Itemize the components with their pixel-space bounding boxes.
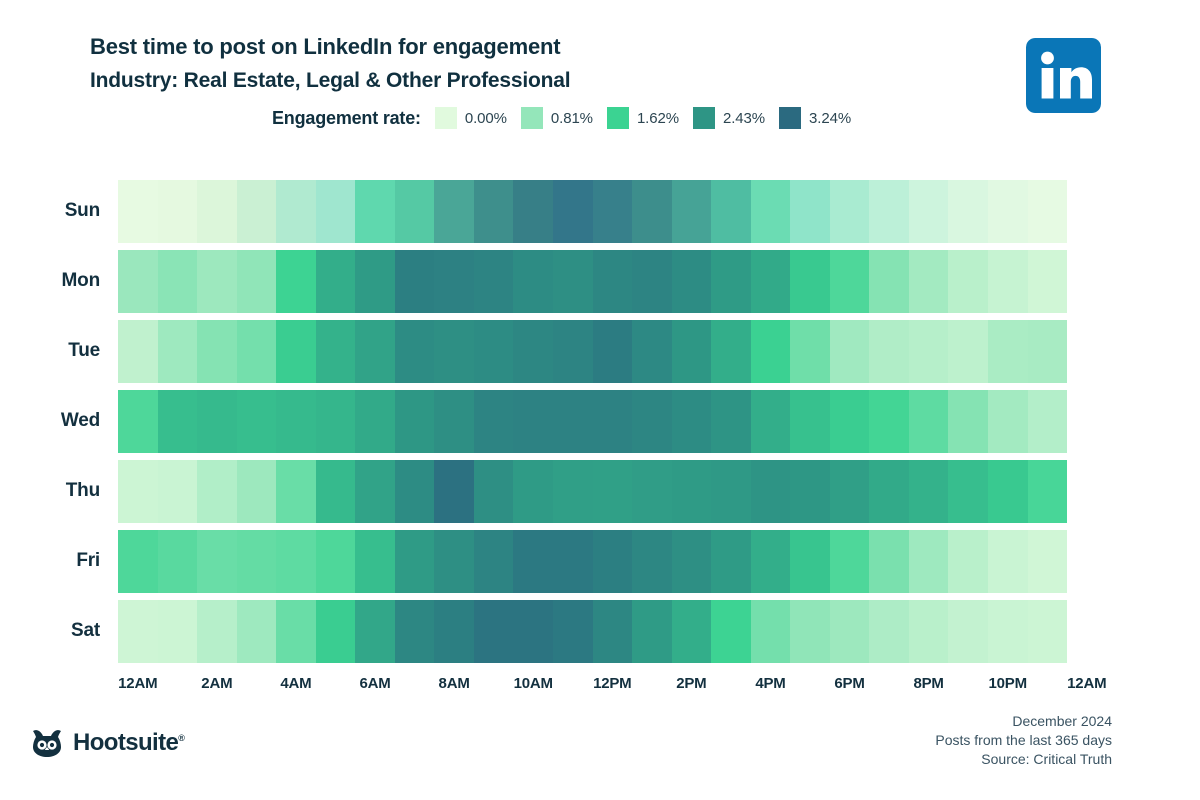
x-tick-label: 2AM bbox=[201, 675, 232, 692]
x-tick-label: 8PM bbox=[913, 675, 943, 692]
owl-icon bbox=[30, 728, 64, 758]
heatmap-cell[interactable] bbox=[790, 530, 830, 593]
heatmap-cell[interactable] bbox=[197, 530, 237, 593]
heatmap-cell[interactable] bbox=[751, 250, 791, 313]
heatmap-cell[interactable] bbox=[276, 390, 316, 453]
heatmap-cell[interactable] bbox=[197, 600, 237, 663]
x-tick-label: 4PM bbox=[755, 675, 785, 692]
day-label-tue: Tue bbox=[0, 340, 100, 362]
hootsuite-wordmark: Hootsuite® bbox=[73, 729, 184, 757]
heatmap-cell[interactable] bbox=[909, 320, 949, 383]
heatmap-cell[interactable] bbox=[632, 320, 672, 383]
heatmap-cell[interactable] bbox=[355, 320, 395, 383]
footer-note: December 2024 Posts from the last 365 da… bbox=[935, 712, 1112, 769]
heatmap-cell[interactable] bbox=[593, 600, 633, 663]
heatmap-cell[interactable] bbox=[316, 530, 356, 593]
day-label-fri: Fri bbox=[0, 550, 100, 572]
heatmap-cell[interactable] bbox=[316, 600, 356, 663]
heatmap-cell[interactable] bbox=[197, 390, 237, 453]
heatmap-cell[interactable] bbox=[751, 320, 791, 383]
heatmap-cell[interactable] bbox=[988, 530, 1028, 593]
heatmap-cell[interactable] bbox=[909, 390, 949, 453]
heatmap-cell[interactable] bbox=[118, 390, 158, 453]
day-label-sun: Sun bbox=[0, 200, 100, 222]
heatmap-row bbox=[118, 320, 1067, 383]
heatmap-row bbox=[118, 250, 1067, 313]
x-tick-label: 12AM bbox=[118, 675, 157, 692]
heatmap-cell[interactable] bbox=[869, 180, 909, 243]
heatmap-cell[interactable] bbox=[830, 180, 870, 243]
day-label-mon: Mon bbox=[0, 270, 100, 292]
heatmap-cell[interactable] bbox=[434, 180, 474, 243]
heatmap-cell[interactable] bbox=[355, 530, 395, 593]
heatmap-cell[interactable] bbox=[869, 250, 909, 313]
heatmap-cell[interactable] bbox=[869, 320, 909, 383]
heatmap-cell[interactable] bbox=[197, 250, 237, 313]
heatmap-cell[interactable] bbox=[830, 250, 870, 313]
heatmap-cell[interactable] bbox=[988, 250, 1028, 313]
day-label-thu: Thu bbox=[0, 480, 100, 502]
heatmap-cell[interactable] bbox=[593, 250, 633, 313]
heatmap-cell[interactable] bbox=[909, 460, 949, 523]
heatmap-cell[interactable] bbox=[988, 390, 1028, 453]
heatmap-cell[interactable] bbox=[474, 390, 514, 453]
x-tick-label: 2PM bbox=[676, 675, 706, 692]
heatmap-cell[interactable] bbox=[276, 320, 316, 383]
heatmap-cell[interactable] bbox=[513, 460, 553, 523]
heatmap-cell[interactable] bbox=[276, 600, 316, 663]
heatmap-cell[interactable] bbox=[118, 320, 158, 383]
heatmap-cell[interactable] bbox=[790, 250, 830, 313]
heatmap-cell[interactable] bbox=[909, 180, 949, 243]
heatmap-cell[interactable] bbox=[553, 600, 593, 663]
heatmap-cell[interactable] bbox=[158, 250, 198, 313]
heatmap-cell[interactable] bbox=[672, 320, 712, 383]
heatmap-cell[interactable] bbox=[948, 460, 988, 523]
heatmap-row bbox=[118, 390, 1067, 453]
heatmap-cell[interactable] bbox=[434, 530, 474, 593]
heatmap-row bbox=[118, 460, 1067, 523]
heatmap-cell[interactable] bbox=[395, 320, 435, 383]
x-tick-label: 10PM bbox=[988, 675, 1026, 692]
heatmap-cell[interactable] bbox=[948, 600, 988, 663]
heatmap-cell[interactable] bbox=[316, 180, 356, 243]
heatmap-cell[interactable] bbox=[513, 180, 553, 243]
heatmap-cell[interactable] bbox=[909, 530, 949, 593]
heatmap-cell[interactable] bbox=[434, 390, 474, 453]
heatmap-cell[interactable] bbox=[395, 180, 435, 243]
heatmap-cell[interactable] bbox=[593, 180, 633, 243]
heatmap-cell[interactable] bbox=[1028, 530, 1068, 593]
heatmap-cell[interactable] bbox=[553, 530, 593, 593]
heatmap-cell[interactable] bbox=[830, 320, 870, 383]
heatmap-cell[interactable] bbox=[395, 600, 435, 663]
heatmap-cell[interactable] bbox=[1028, 180, 1068, 243]
heatmap-cell[interactable] bbox=[948, 530, 988, 593]
heatmap-cell[interactable] bbox=[790, 390, 830, 453]
heatmap-cell[interactable] bbox=[474, 250, 514, 313]
heatmap-row bbox=[118, 600, 1067, 663]
heatmap-cell[interactable] bbox=[830, 600, 870, 663]
heatmap-cell[interactable] bbox=[513, 600, 553, 663]
heatmap-cell[interactable] bbox=[1028, 320, 1068, 383]
day-label-wed: Wed bbox=[0, 410, 100, 432]
footer-date: December 2024 bbox=[935, 712, 1112, 731]
heatmap-row bbox=[118, 180, 1067, 243]
heatmap-cell[interactable] bbox=[118, 180, 158, 243]
heatmap-cell[interactable] bbox=[237, 390, 277, 453]
heatmap-cell[interactable] bbox=[118, 600, 158, 663]
heatmap-cell[interactable] bbox=[593, 460, 633, 523]
heatmap-cell[interactable] bbox=[355, 390, 395, 453]
x-axis: 12AM2AM4AM6AM8AM10AM12PM2PM4PM6PM8PM10PM… bbox=[118, 675, 1067, 697]
chart-page: Best time to post on LinkedIn for engage… bbox=[0, 0, 1200, 800]
x-tick-label: 6PM bbox=[834, 675, 864, 692]
heatmap-cell[interactable] bbox=[869, 530, 909, 593]
heatmap-cell[interactable] bbox=[672, 600, 712, 663]
heatmap-cell[interactable] bbox=[355, 180, 395, 243]
heatmap-cell[interactable] bbox=[513, 250, 553, 313]
heatmap-cell[interactable] bbox=[276, 460, 316, 523]
footer-source: Source: Critical Truth bbox=[935, 750, 1112, 769]
heatmap-cell[interactable] bbox=[632, 600, 672, 663]
day-label-sat: Sat bbox=[0, 620, 100, 642]
heatmap-cell[interactable] bbox=[197, 320, 237, 383]
heatmap-cell[interactable] bbox=[948, 320, 988, 383]
heatmap-cell[interactable] bbox=[711, 320, 751, 383]
heatmap-cell[interactable] bbox=[158, 320, 198, 383]
heatmap-cell[interactable] bbox=[1028, 460, 1068, 523]
heatmap-cell[interactable] bbox=[474, 180, 514, 243]
heatmap-cell[interactable] bbox=[632, 180, 672, 243]
heatmap-row bbox=[118, 530, 1067, 593]
heatmap-cell[interactable] bbox=[474, 320, 514, 383]
heatmap-cell[interactable] bbox=[197, 460, 237, 523]
heatmap-cell[interactable] bbox=[869, 460, 909, 523]
heatmap-cell[interactable] bbox=[553, 180, 593, 243]
heatmap-cell[interactable] bbox=[395, 390, 435, 453]
heatmap-cell[interactable] bbox=[316, 460, 356, 523]
heatmap-cell[interactable] bbox=[948, 250, 988, 313]
heatmap-cell[interactable] bbox=[553, 390, 593, 453]
heatmap-cell[interactable] bbox=[355, 460, 395, 523]
heatmap-cell[interactable] bbox=[711, 530, 751, 593]
footer-window: Posts from the last 365 days bbox=[935, 731, 1112, 750]
heatmap-cell[interactable] bbox=[672, 390, 712, 453]
hootsuite-name: Hootsuite bbox=[73, 729, 178, 756]
heatmap-cell[interactable] bbox=[711, 250, 751, 313]
x-tick-label: 12PM bbox=[593, 675, 631, 692]
heatmap-cell[interactable] bbox=[474, 530, 514, 593]
heatmap-cell[interactable] bbox=[869, 390, 909, 453]
heatmap-cell[interactable] bbox=[988, 600, 1028, 663]
heatmap-cell[interactable] bbox=[513, 390, 553, 453]
heatmap-cell[interactable] bbox=[158, 180, 198, 243]
heatmap-cell[interactable] bbox=[751, 390, 791, 453]
heatmap-cell[interactable] bbox=[355, 600, 395, 663]
heatmap-cell[interactable] bbox=[711, 180, 751, 243]
heatmap-cell[interactable] bbox=[276, 530, 316, 593]
registered-mark: ® bbox=[178, 733, 184, 743]
heatmap-cell[interactable] bbox=[632, 460, 672, 523]
heatmap-cell[interactable] bbox=[474, 600, 514, 663]
heatmap-cell[interactable] bbox=[553, 460, 593, 523]
x-tick-label: 10AM bbox=[514, 675, 553, 692]
heatmap-cell[interactable] bbox=[513, 320, 553, 383]
heatmap-cell[interactable] bbox=[830, 390, 870, 453]
heatmap-cell[interactable] bbox=[751, 180, 791, 243]
heatmap-cell[interactable] bbox=[830, 460, 870, 523]
heatmap-cell[interactable] bbox=[553, 250, 593, 313]
heatmap-cell[interactable] bbox=[790, 600, 830, 663]
heatmap-cell[interactable] bbox=[711, 600, 751, 663]
heatmap-cell[interactable] bbox=[751, 600, 791, 663]
heatmap-cell[interactable] bbox=[1028, 600, 1068, 663]
heatmap-cell[interactable] bbox=[1028, 250, 1068, 313]
heatmap-cell[interactable] bbox=[237, 180, 277, 243]
heatmap-cell[interactable] bbox=[513, 530, 553, 593]
heatmap-cell[interactable] bbox=[751, 530, 791, 593]
heatmap-cell[interactable] bbox=[434, 600, 474, 663]
heatmap-cell[interactable] bbox=[395, 460, 435, 523]
heatmap-cell[interactable] bbox=[158, 460, 198, 523]
heatmap-cell[interactable] bbox=[316, 320, 356, 383]
heatmap-cell[interactable] bbox=[988, 320, 1028, 383]
heatmap-cell[interactable] bbox=[434, 320, 474, 383]
heatmap-cell[interactable] bbox=[988, 180, 1028, 243]
x-tick-label: 6AM bbox=[359, 675, 390, 692]
heatmap-cell[interactable] bbox=[632, 250, 672, 313]
heatmap-cell[interactable] bbox=[593, 530, 633, 593]
heatmap-cell[interactable] bbox=[316, 390, 356, 453]
heatmap-cell[interactable] bbox=[474, 460, 514, 523]
heatmap-cell[interactable] bbox=[237, 460, 277, 523]
x-tick-label: 12AM bbox=[1067, 675, 1106, 692]
heatmap-cell[interactable] bbox=[237, 250, 277, 313]
heatmap-cell[interactable] bbox=[909, 600, 949, 663]
heatmap-cell[interactable] bbox=[395, 530, 435, 593]
heatmap-cell[interactable] bbox=[672, 530, 712, 593]
heatmap-cell[interactable] bbox=[672, 180, 712, 243]
heatmap-cell[interactable] bbox=[869, 600, 909, 663]
heatmap-cell[interactable] bbox=[158, 600, 198, 663]
heatmap-cell[interactable] bbox=[158, 390, 198, 453]
heatmap-cell[interactable] bbox=[672, 460, 712, 523]
heatmap-cell[interactable] bbox=[237, 320, 277, 383]
heatmap-cell[interactable] bbox=[632, 530, 672, 593]
heatmap-cell[interactable] bbox=[909, 250, 949, 313]
heatmap-cell[interactable] bbox=[118, 460, 158, 523]
heatmap-cell[interactable] bbox=[948, 180, 988, 243]
heatmap-cell[interactable] bbox=[118, 530, 158, 593]
heatmap-cell[interactable] bbox=[632, 390, 672, 453]
heatmap-cell[interactable] bbox=[593, 320, 633, 383]
heatmap-cell[interactable] bbox=[158, 530, 198, 593]
heatmap-cell[interactable] bbox=[711, 460, 751, 523]
heatmap-cell[interactable] bbox=[237, 600, 277, 663]
hootsuite-logo: Hootsuite® bbox=[30, 728, 184, 758]
heatmap-cell[interactable] bbox=[316, 250, 356, 313]
heatmap-cell[interactable] bbox=[355, 250, 395, 313]
heatmap-cell[interactable] bbox=[948, 390, 988, 453]
x-tick-label: 4AM bbox=[280, 675, 311, 692]
heatmap-cell[interactable] bbox=[711, 390, 751, 453]
heatmap-cell[interactable] bbox=[395, 250, 435, 313]
heatmap-cell[interactable] bbox=[434, 250, 474, 313]
heatmap-cell[interactable] bbox=[672, 250, 712, 313]
heatmap-cell[interactable] bbox=[988, 460, 1028, 523]
heatmap-cell[interactable] bbox=[276, 250, 316, 313]
heatmap-cell[interactable] bbox=[553, 320, 593, 383]
heatmap-cell[interactable] bbox=[830, 530, 870, 593]
heatmap-cell[interactable] bbox=[276, 180, 316, 243]
heatmap-cell[interactable] bbox=[593, 390, 633, 453]
heatmap-cell[interactable] bbox=[237, 530, 277, 593]
heatmap-cell[interactable] bbox=[434, 460, 474, 523]
heatmap-cell[interactable] bbox=[790, 180, 830, 243]
heatmap-cell[interactable] bbox=[790, 460, 830, 523]
heatmap-cell[interactable] bbox=[751, 460, 791, 523]
heatmap-cell[interactable] bbox=[1028, 390, 1068, 453]
heatmap-cell[interactable] bbox=[118, 250, 158, 313]
heatmap-cell[interactable] bbox=[197, 180, 237, 243]
heatmap-cell[interactable] bbox=[790, 320, 830, 383]
x-tick-label: 8AM bbox=[439, 675, 470, 692]
